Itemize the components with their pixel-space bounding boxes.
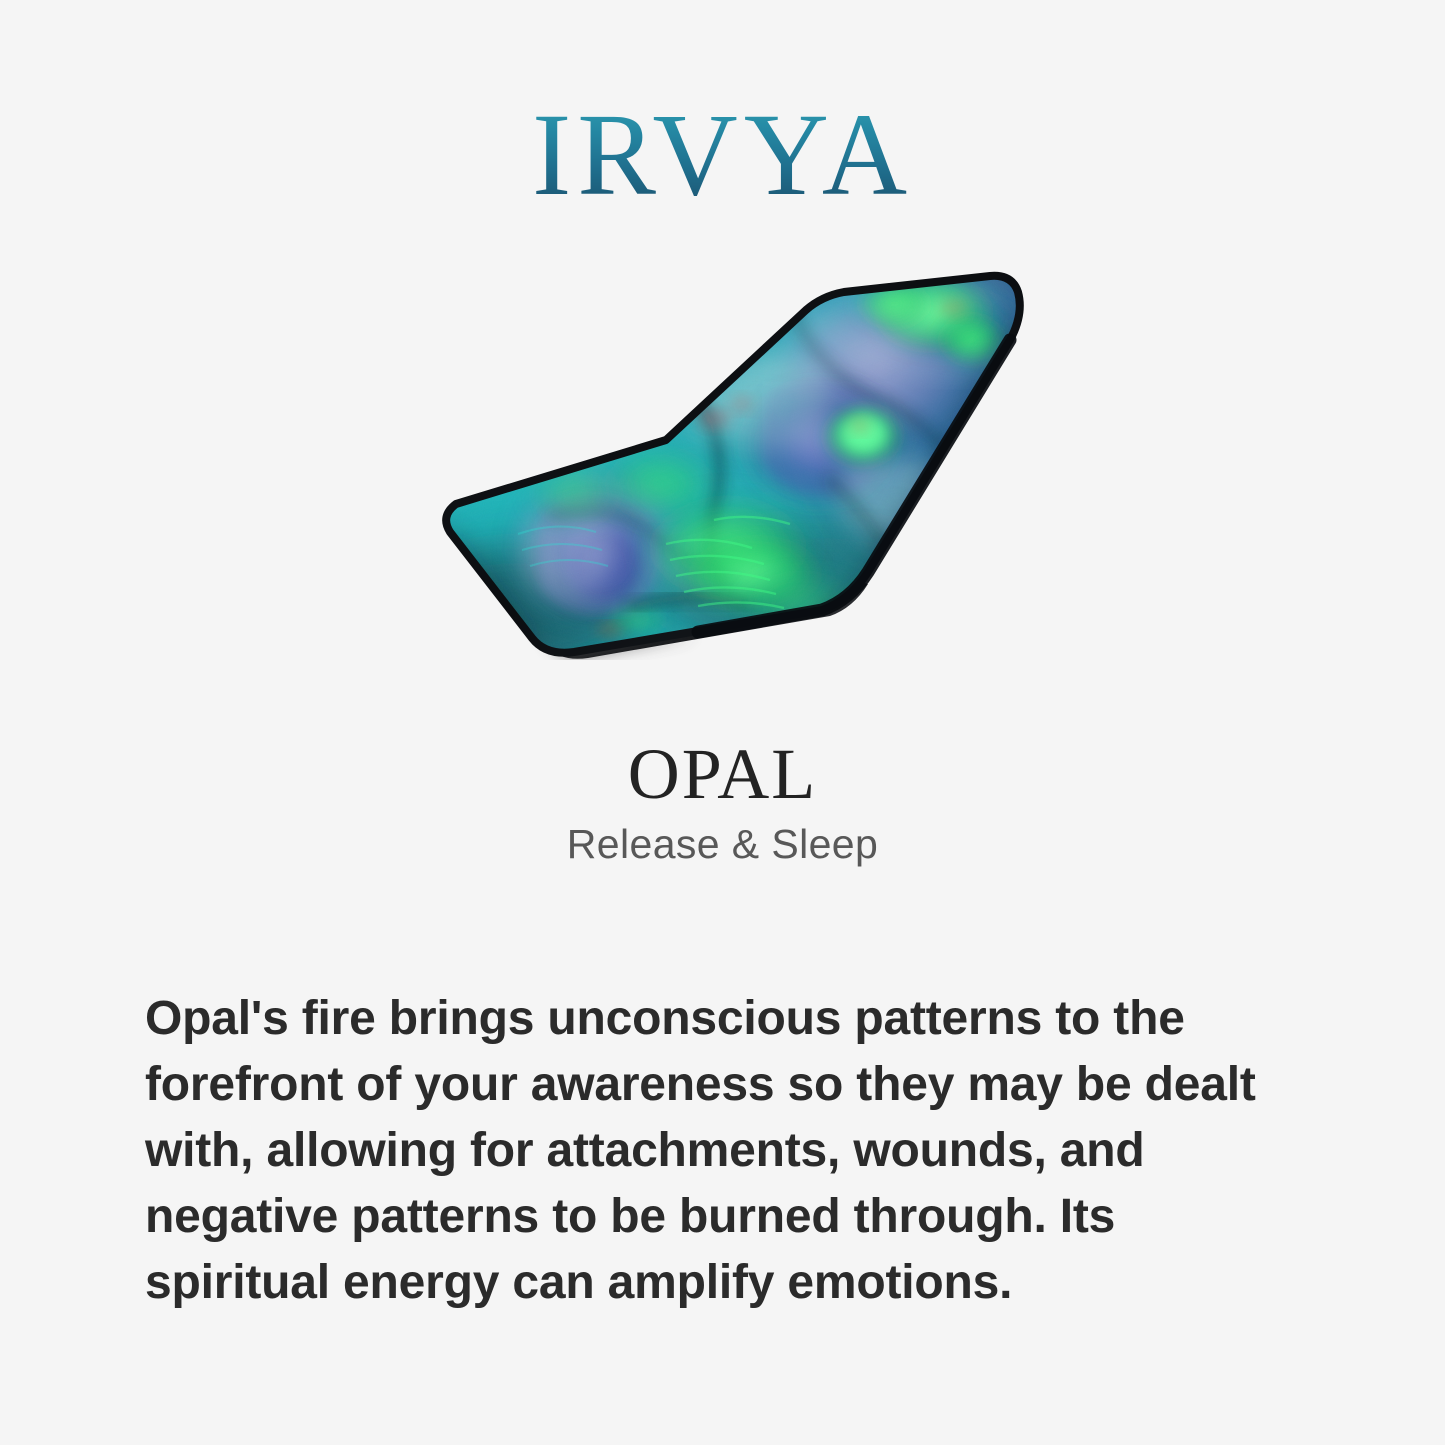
product-card: IRVYA (0, 0, 1445, 1445)
page-title: OPAL (0, 738, 1445, 810)
brand-logo: IRVYA (0, 96, 1445, 214)
opal-gemstone-image (398, 248, 1038, 660)
opal-gemstone-illustration (398, 248, 1038, 660)
product-tagline: Release & Sleep (0, 820, 1445, 869)
product-description: Opal's fire brings unconscious patterns … (145, 986, 1305, 1316)
